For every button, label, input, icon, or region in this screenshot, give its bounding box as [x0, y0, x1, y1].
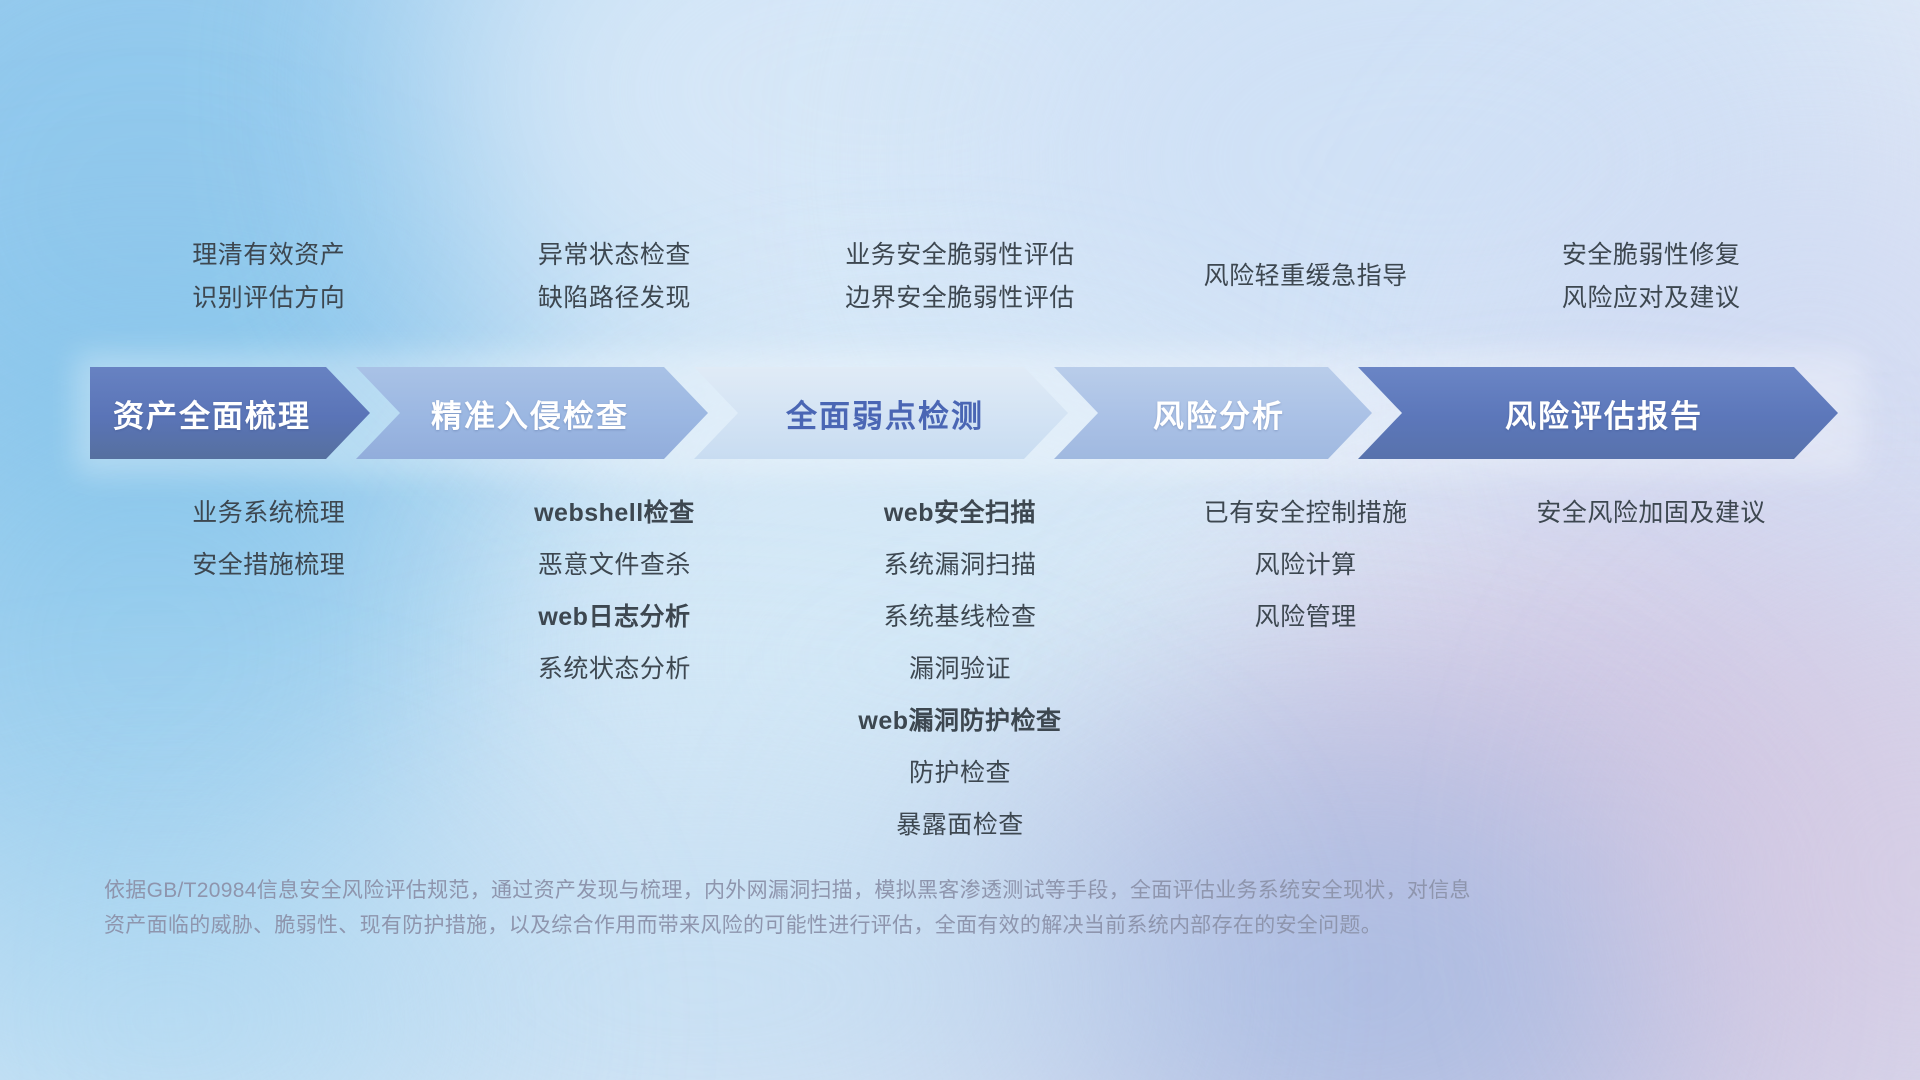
slide-canvas: 理清有效资产 识别评估方向 异常状态检查 缺陷路径发现 业务安全脆弱性评估 边界… — [0, 0, 1920, 1080]
list-item: web日志分析 — [538, 602, 690, 632]
chevron-stage-5[interactable]: 风险评估报告 — [1358, 367, 1838, 459]
chevron-stage-2[interactable]: 精准入侵检查 — [356, 367, 708, 459]
top-caption-line: 异常状态检查 — [538, 240, 691, 271]
top-caption-line: 风险应对及建议 — [1562, 283, 1741, 314]
detail-column-2: webshell检查 恶意文件查杀 web日志分析 系统状态分析 — [442, 498, 788, 684]
chevron-stage-5-label: 风险评估报告 — [1505, 391, 1703, 436]
top-caption-line: 缺陷路径发现 — [538, 283, 691, 314]
list-item: 风险管理 — [1255, 602, 1357, 632]
top-caption-line: 理清有效资产 — [192, 240, 345, 271]
list-item: web安全扫描 — [884, 498, 1036, 528]
top-caption-line: 安全脆弱性修复 — [1562, 240, 1741, 271]
list-item: 安全风险加固及建议 — [1536, 498, 1766, 528]
list-item: 防护检查 — [909, 758, 1011, 788]
list-item: 暴露面检查 — [896, 810, 1024, 840]
process-chevron-band: 资产全面梳理 精准入侵检查 全面弱点检测 风险分析 风险评估报告 — [90, 367, 1838, 459]
chevron-stage-2-label: 精准入侵检查 — [431, 391, 629, 436]
top-caption-column-5: 安全脆弱性修复 风险应对及建议 — [1478, 222, 1824, 332]
footer-line-2: 资产面临的威胁、脆弱性、现有防护措施，以及综合作用而带来风险的可能性进行评估，全… — [104, 909, 1804, 944]
list-item: 已有安全控制措施 — [1204, 498, 1408, 528]
footer-line-1: 依据GB/T20984信息安全风险评估规范，通过资产发现与梳理，内外网漏洞扫描，… — [104, 874, 1804, 909]
chevron-stage-1-label: 资产全面梳理 — [113, 391, 311, 436]
top-caption-column-2: 异常状态检查 缺陷路径发现 — [442, 222, 788, 332]
chevron-stage-3-label: 全面弱点检测 — [786, 391, 984, 436]
top-caption-column-1: 理清有效资产 识别评估方向 — [96, 222, 442, 332]
top-caption-line: 业务安全脆弱性评估 — [845, 240, 1075, 271]
detail-column-5: 安全风险加固及建议 — [1478, 498, 1824, 528]
list-item: webshell检查 — [534, 498, 695, 528]
chevron-stage-4[interactable]: 风险分析 — [1054, 367, 1372, 459]
top-caption-line: 边界安全脆弱性评估 — [845, 283, 1075, 314]
list-item: 恶意文件查杀 — [538, 550, 691, 580]
top-caption-column-3: 业务安全脆弱性评估 边界安全脆弱性评估 — [787, 222, 1133, 332]
detail-column-1: 业务系统梳理 安全措施梳理 — [96, 498, 442, 580]
top-caption-row: 理清有效资产 识别评估方向 异常状态检查 缺陷路径发现 业务安全脆弱性评估 边界… — [96, 222, 1824, 332]
list-item: 系统状态分析 — [538, 654, 691, 684]
chevron-stage-3[interactable]: 全面弱点检测 — [694, 367, 1068, 459]
list-item: web漏洞防护检查 — [858, 706, 1061, 736]
list-item: 系统基线检查 — [883, 602, 1036, 632]
list-item: 风险计算 — [1255, 550, 1357, 580]
chevron-stage-1[interactable]: 资产全面梳理 — [90, 367, 370, 459]
list-item: 业务系统梳理 — [192, 498, 345, 528]
chevron-stage-4-label: 风险分析 — [1153, 391, 1285, 436]
top-caption-line: 识别评估方向 — [192, 283, 345, 314]
list-item: 系统漏洞扫描 — [883, 550, 1036, 580]
detail-column-4: 已有安全控制措施 风险计算 风险管理 — [1133, 498, 1479, 632]
bottom-detail-row: 业务系统梳理 安全措施梳理 webshell检查 恶意文件查杀 web日志分析 … — [96, 498, 1824, 840]
top-caption-column-4: 风险轻重缓急指导 — [1133, 222, 1479, 332]
detail-column-3: web安全扫描 系统漏洞扫描 系统基线检查 漏洞验证 web漏洞防护检查 防护检… — [787, 498, 1133, 840]
top-caption-line: 风险轻重缓急指导 — [1204, 261, 1408, 292]
list-item: 漏洞验证 — [909, 654, 1011, 684]
list-item: 安全措施梳理 — [192, 550, 345, 580]
footer-description: 依据GB/T20984信息安全风险评估规范，通过资产发现与梳理，内外网漏洞扫描，… — [104, 874, 1804, 943]
